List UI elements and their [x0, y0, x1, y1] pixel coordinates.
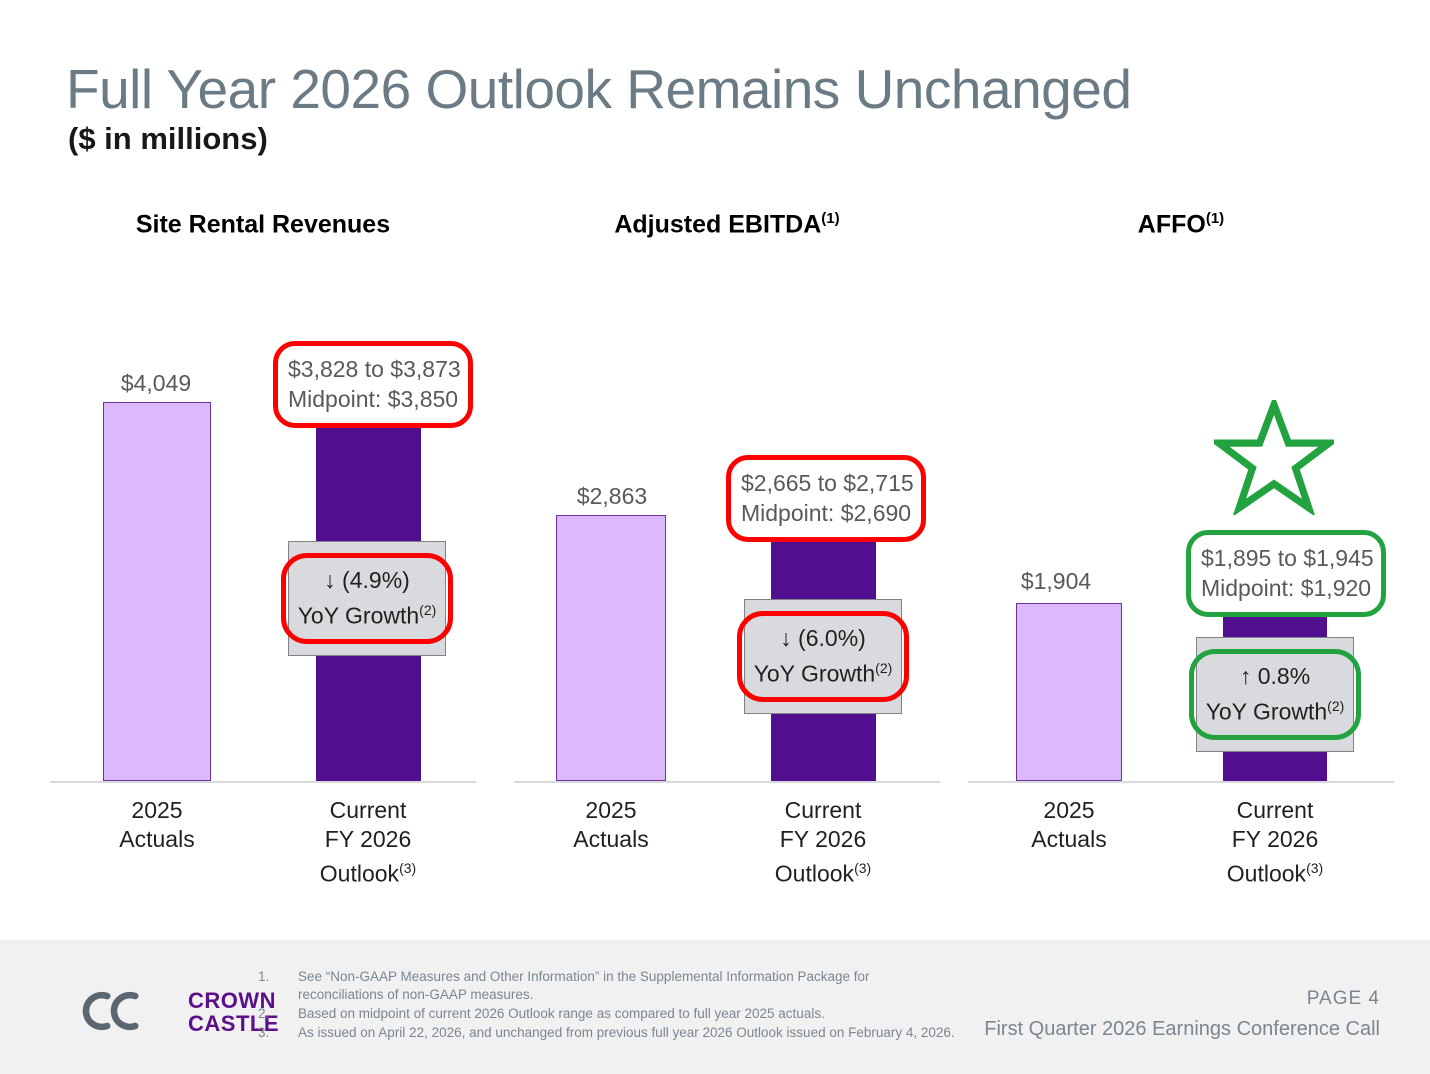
- xlabel-line3: Outlook: [775, 861, 854, 887]
- bar-2025-actuals: [1016, 603, 1122, 781]
- xlabel-2025-actuals: 2025 Actuals: [87, 796, 227, 854]
- footnote-number: 2.: [258, 1005, 298, 1023]
- group-title-superscript: (1): [1206, 210, 1224, 227]
- footnote-item: 2. Based on midpoint of current 2026 Out…: [258, 1005, 958, 1023]
- footnote-number: 3.: [258, 1024, 298, 1042]
- axis-line: [514, 781, 940, 783]
- group-title-affo: AFFO(1): [966, 210, 1396, 239]
- footer: CROWN CASTLE 1. See “Non-GAAP Measures a…: [0, 940, 1430, 1074]
- group-title-text: AFFO: [1138, 210, 1206, 238]
- range-line: $1,895 to $1,945: [1201, 545, 1374, 571]
- xlabel-superscript: (3): [1306, 860, 1323, 876]
- footnote-number: 1.: [258, 968, 298, 1004]
- xlabel-line1: 2025: [1043, 797, 1094, 823]
- chart-group-adjusted-ebitda: Adjusted EBITDA(1) $2,863 ↓ (6.0%) YoY G…: [512, 200, 942, 900]
- outlook-range-callout-site-rental-revenues: $3,828 to $3,873 Midpoint: $3,850: [273, 341, 473, 428]
- chart-group-affo: AFFO(1) $1,904 ↑ 0.8% YoY Growth(2) $1,8…: [966, 200, 1396, 900]
- yoy-value: ↓ (4.9%): [324, 567, 410, 593]
- yoy-superscript: (2): [419, 602, 436, 618]
- star-icon: [1214, 400, 1334, 515]
- chart-group-site-rental-revenues: Site Rental Revenues $4,049 ↓ (4.9%) YoY…: [48, 200, 478, 900]
- conference-label: First Quarter 2026 Earnings Conference C…: [984, 1018, 1380, 1041]
- footnote-text: Based on midpoint of current 2026 Outloo…: [298, 1005, 825, 1023]
- xlabel-line2: Actuals: [1031, 826, 1106, 852]
- yoy-plaque-site-rental-revenues: ↓ (4.9%) YoY Growth(2): [288, 541, 446, 656]
- bar-value-2025-actuals: $4,049: [100, 370, 212, 397]
- outlook-range-callout-adjusted-ebitda: $2,665 to $2,715 Midpoint: $2,690: [726, 455, 926, 542]
- group-title-adjusted-ebitda: Adjusted EBITDA(1): [512, 210, 942, 239]
- bar-2025-actuals: [103, 402, 211, 781]
- crown-castle-logo: CROWN CASTLE: [68, 986, 258, 1036]
- yoy-plaque-adjusted-ebitda: ↓ (6.0%) YoY Growth(2): [744, 599, 902, 714]
- range-line: $3,828 to $3,873: [288, 356, 461, 382]
- bar-value-2025-actuals: $2,863: [556, 483, 668, 510]
- footnote-item: 3. As issued on April 22, 2026, and unch…: [258, 1024, 958, 1042]
- midpoint-line: Midpoint: $2,690: [741, 500, 911, 526]
- xlabel-line1: 2025: [131, 797, 182, 823]
- page-title: Full Year 2026 Outlook Remains Unchanged: [66, 58, 1131, 120]
- yoy-plaque-affo: ↑ 0.8% YoY Growth(2): [1196, 637, 1354, 752]
- bar-value-2025-actuals: $1,904: [1000, 568, 1112, 595]
- xlabel-line1: Current: [785, 797, 862, 823]
- midpoint-line: Midpoint: $1,920: [1201, 575, 1371, 601]
- xlabel-line3: Outlook: [1227, 861, 1306, 887]
- xlabel-superscript: (3): [399, 860, 416, 876]
- yoy-label: YoY Growth: [1206, 699, 1327, 725]
- xlabel-superscript: (3): [854, 860, 871, 876]
- yoy-superscript: (2): [1327, 698, 1344, 714]
- xlabel-fy2026-outlook: Current FY 2026 Outlook(3): [1205, 796, 1345, 889]
- footnotes-list: 1. See “Non-GAAP Measures and Other Info…: [258, 968, 958, 1043]
- axis-line: [968, 781, 1394, 783]
- xlabel-line1: Current: [1237, 797, 1314, 823]
- footnote-text: See “Non-GAAP Measures and Other Informa…: [298, 968, 958, 1004]
- xlabel-fy2026-outlook: Current FY 2026 Outlook(3): [298, 796, 438, 889]
- xlabel-fy2026-outlook: Current FY 2026 Outlook(3): [753, 796, 893, 889]
- yoy-growth-callout-site-rental-revenues: ↓ (4.9%) YoY Growth(2): [281, 553, 454, 644]
- yoy-value: ↑ 0.8%: [1240, 663, 1310, 689]
- xlabel-line2: Actuals: [119, 826, 194, 852]
- page-subtitle: ($ in millions): [68, 120, 268, 158]
- xlabel-line2: FY 2026: [780, 826, 867, 852]
- xlabel-line2: FY 2026: [325, 826, 412, 852]
- group-title-site-rental-revenues: Site Rental Revenues: [48, 210, 478, 239]
- slide: Full Year 2026 Outlook Remains Unchanged…: [0, 0, 1430, 1074]
- logo-mark-icon: [68, 986, 180, 1036]
- xlabel-2025-actuals: 2025 Actuals: [541, 796, 681, 854]
- yoy-superscript: (2): [875, 660, 892, 676]
- xlabel-line2: Actuals: [573, 826, 648, 852]
- group-title-text: Adjusted EBITDA: [614, 210, 821, 238]
- yoy-growth-callout-affo: ↑ 0.8% YoY Growth(2): [1189, 649, 1362, 740]
- page-number: PAGE 4: [1307, 988, 1380, 1010]
- footnote-text: As issued on April 22, 2026, and unchang…: [298, 1024, 955, 1042]
- xlabel-line1: Current: [330, 797, 407, 823]
- yoy-value: ↓ (6.0%): [780, 625, 866, 651]
- group-title-superscript: (1): [821, 210, 839, 227]
- xlabel-2025-actuals: 2025 Actuals: [999, 796, 1139, 854]
- xlabel-line2: FY 2026: [1232, 826, 1319, 852]
- outlook-range-callout-affo: $1,895 to $1,945 Midpoint: $1,920: [1186, 530, 1386, 617]
- range-line: $2,665 to $2,715: [741, 470, 914, 496]
- yoy-label: YoY Growth: [298, 603, 419, 629]
- axis-line: [50, 781, 476, 783]
- yoy-growth-callout-adjusted-ebitda: ↓ (6.0%) YoY Growth(2): [737, 611, 910, 702]
- yoy-label: YoY Growth: [754, 661, 875, 687]
- bar-2025-actuals: [556, 515, 666, 781]
- group-title-text: Site Rental Revenues: [136, 210, 390, 238]
- footnote-item: 1. See “Non-GAAP Measures and Other Info…: [258, 968, 958, 1004]
- midpoint-line: Midpoint: $3,850: [288, 386, 458, 412]
- xlabel-line3: Outlook: [320, 861, 399, 887]
- xlabel-line1: 2025: [585, 797, 636, 823]
